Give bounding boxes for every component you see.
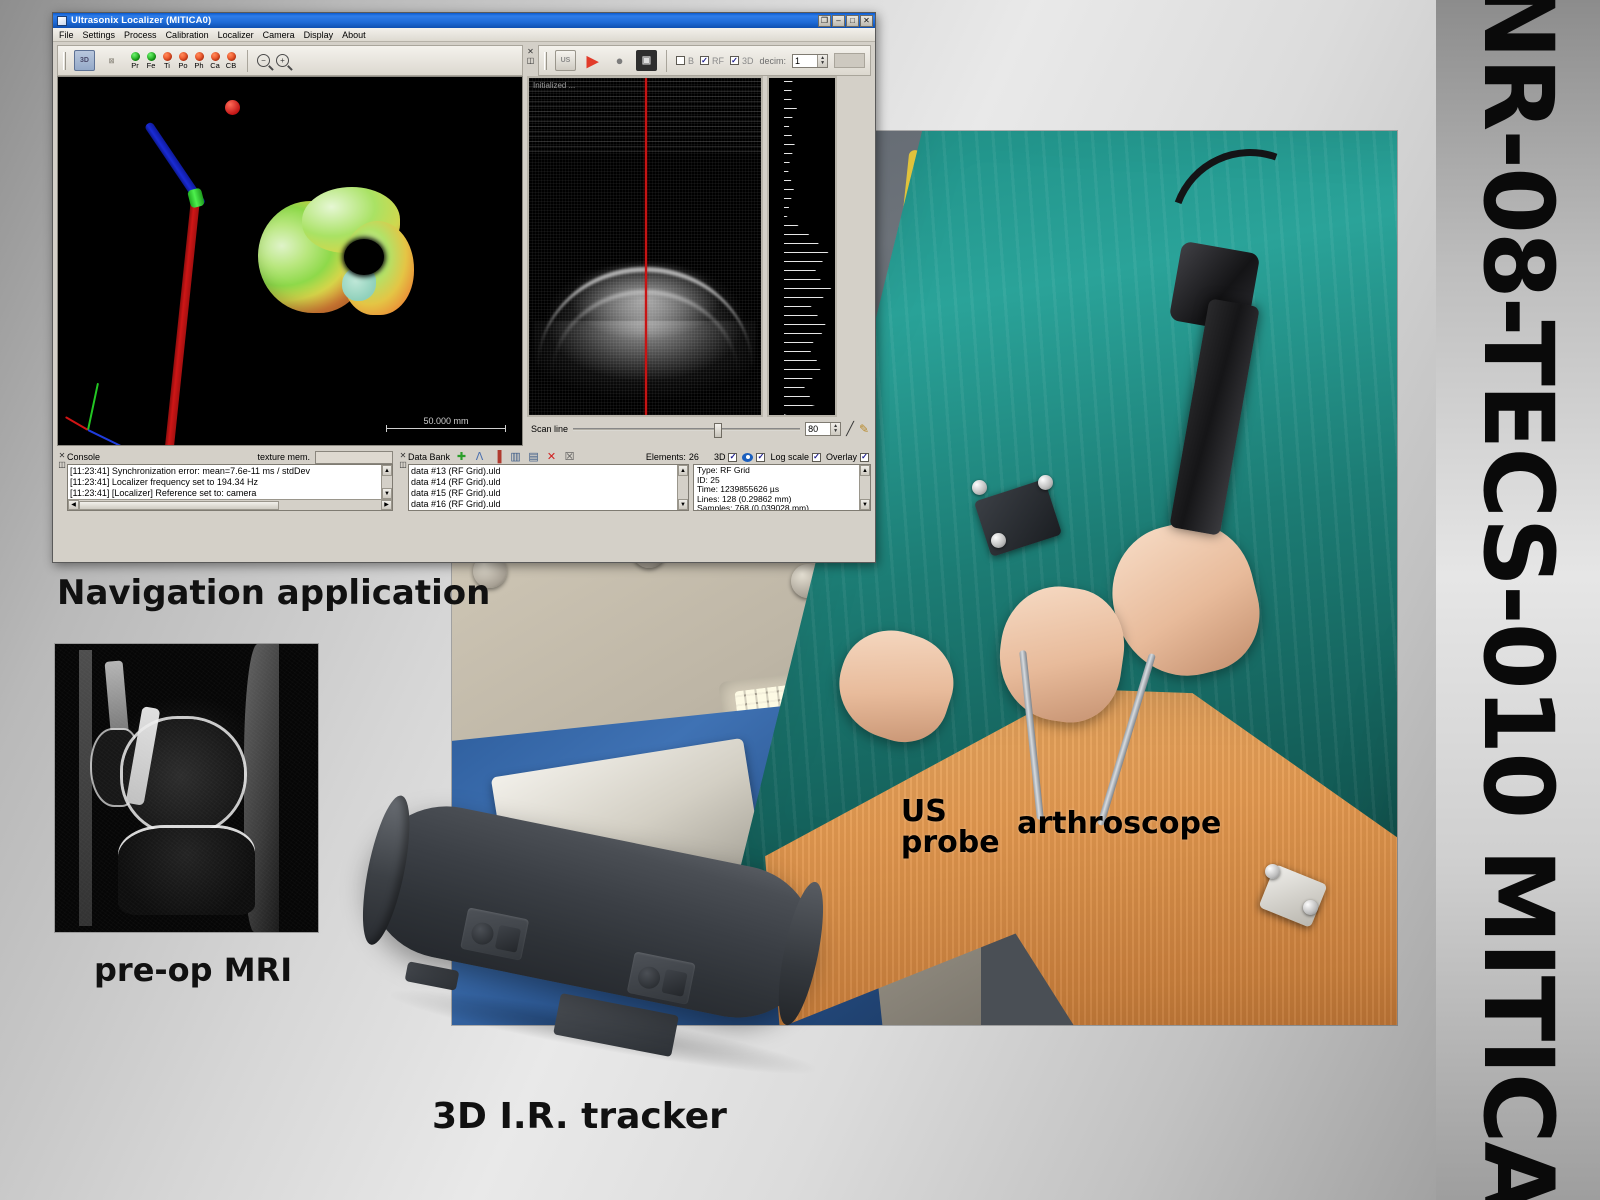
decim-spinner[interactable]: ▲▼ (792, 54, 828, 68)
scroll-up-button[interactable]: ▲ (382, 465, 392, 476)
window-titlebar[interactable]: Ultrasonix Localizer (MITICA0) ❐ – □ ✕ (53, 13, 875, 28)
close-button[interactable]: ✕ (860, 15, 873, 27)
view-3d-button[interactable]: 3D (74, 50, 95, 71)
scanline-spinner[interactable]: ▲▼ (805, 422, 841, 436)
poster-background: US probe arthroscope (0, 0, 1600, 1200)
us-status-text: Initialized ... (533, 81, 575, 90)
poster-vertical-title: ANR-08-TECS-010 MITICAO (1470, 0, 1566, 1200)
window-title: Ultrasonix Localizer (MITICA0) (71, 15, 211, 26)
zoom-in-icon[interactable]: + (276, 54, 289, 67)
console-line: [11:23:41] [Localizer] Reference set to:… (70, 488, 390, 499)
menu-process[interactable]: Process (124, 30, 157, 40)
list-item[interactable]: data #15 (RF Grid).uld (411, 488, 686, 499)
axis-x (65, 416, 89, 431)
app-icon (57, 16, 67, 26)
tracker-led (792, 949, 800, 957)
add-icon[interactable]: ✚ (455, 451, 468, 464)
scanline-cursor[interactable] (645, 78, 647, 415)
dock-float-icon[interactable]: ◫ (58, 460, 66, 469)
console-line: [11:23:41] Localizer frequency set to 19… (70, 477, 390, 488)
eye-icon (742, 453, 753, 462)
led-indicator (195, 52, 204, 61)
tracker-led (797, 934, 805, 942)
spinner-arrows[interactable]: ▲▼ (817, 55, 827, 67)
scroll-up-button[interactable]: ▲ (860, 465, 870, 476)
scroll-down-button[interactable]: ▼ (860, 499, 870, 510)
scroll-up-button[interactable]: ▲ (678, 465, 688, 476)
caption-preop-mri: pre-op MRI (94, 951, 292, 989)
views-row: 50.000 mm Initialized ... (53, 76, 875, 446)
console-dock: ✕ ◫ Console texture mem. [11:23:41] Sync… (57, 450, 393, 511)
toolbar-dock-handle[interactable]: ✕ ◫ (526, 45, 535, 76)
tracker-camera-right (627, 951, 696, 1005)
scanline-controls[interactable]: Scan line ▲▼ ╱ ✎ (527, 417, 871, 437)
led-indicator (179, 52, 188, 61)
label-us-probe-line1: US (901, 797, 1000, 828)
led-indicator (131, 52, 140, 61)
tracker-camera-left (460, 907, 529, 961)
bottom-dock-row: ✕ ◫ Console texture mem. [11:23:41] Sync… (53, 446, 875, 511)
led-po: Po (176, 52, 190, 70)
console-horizontal-scrollbar[interactable]: ◀ ▶ (68, 499, 392, 510)
save-as-icon[interactable]: ▤ (527, 451, 540, 464)
menu-settings[interactable]: Settings (83, 30, 116, 40)
scroll-down-button[interactable]: ▼ (382, 488, 392, 499)
option-log-scale[interactable]: Log scale ✓ (770, 452, 821, 462)
decim-input[interactable] (793, 55, 817, 67)
elements-label: Elements: (646, 452, 686, 462)
databank-header: Data Bank ✚ ᐱ ▐ ▥ ▤ ✕ ☒ Elements: 26 (408, 450, 871, 464)
ir-marker (1303, 900, 1318, 915)
ir-marker (972, 480, 987, 495)
console-log[interactable]: [11:23:41] Synchronization error: mean=7… (67, 464, 393, 511)
window-controls[interactable]: ❐ – □ ✕ (818, 15, 873, 27)
toolbar-grip[interactable] (63, 52, 66, 70)
toolbar-empty-field (834, 53, 865, 68)
checkbox-box[interactable]: ✓ (728, 453, 737, 462)
axis-y (87, 383, 99, 430)
texture-mem-field (315, 451, 393, 464)
dock-close-icon[interactable]: ✕ (59, 451, 66, 460)
left-toolbar[interactable]: 3D ⊠ Pr Fe Ti (57, 45, 523, 76)
spinner-arrows[interactable]: ▲▼ (830, 423, 840, 435)
scroll-thumb[interactable] (79, 501, 279, 510)
checkbox-box[interactable]: ✓ (812, 453, 821, 462)
texture-mem-label: texture mem. (257, 452, 310, 462)
bmode-image-view[interactable]: Initialized ... (527, 76, 763, 417)
dock-float-icon[interactable]: ◫ (399, 460, 407, 469)
console-header: Console texture mem. (67, 450, 393, 464)
zoom-out-icon[interactable]: − (257, 54, 270, 67)
toolbar-separator (247, 50, 248, 72)
right-toolbar[interactable]: US ▶ ● ▣ ✓ B ✓ RF ✓ 3D decim: (538, 45, 871, 76)
list-item[interactable]: data #13 (RF Grid).uld (411, 466, 686, 477)
delete-icon[interactable]: ✕ (545, 451, 558, 464)
led-ti: Ti (160, 52, 174, 70)
led-indicator (163, 52, 172, 61)
scroll-left-button[interactable]: ◀ (68, 500, 79, 510)
axis-z (88, 429, 132, 446)
led-pr: Pr (128, 52, 142, 70)
save-icon[interactable]: ▥ (509, 451, 522, 464)
coordinate-axes-widget (76, 377, 146, 446)
databank-list[interactable]: data #13 (RF Grid).uld data #14 (RF Grid… (408, 464, 689, 511)
decim-label: decim: (760, 56, 787, 66)
rf-waveform (784, 78, 835, 415)
snapshot-icon[interactable]: ▣ (636, 50, 657, 71)
measure-tool-icon[interactable]: ╱ (846, 421, 854, 437)
scanline-slider-thumb[interactable] (714, 423, 722, 438)
menu-localizer[interactable]: Localizer (218, 30, 254, 40)
rf-signal-trace-view[interactable] (767, 76, 837, 417)
checkbox-box[interactable]: ✓ (860, 453, 869, 462)
led-indicator (227, 52, 236, 61)
play-icon[interactable]: ▶ (582, 50, 603, 71)
list-item[interactable]: data #17 (RF Grid).uld (411, 510, 686, 511)
led-cb: CB (224, 52, 238, 70)
scanline-input[interactable] (806, 423, 830, 435)
ir-marker (991, 533, 1006, 548)
led-indicator (147, 52, 156, 61)
led-ph: Ph (192, 52, 206, 70)
scale-bar-line (386, 428, 506, 429)
restore-button[interactable]: ❐ (818, 15, 831, 27)
poster-title-strip: ANR-08-TECS-010 MITICAO (1436, 0, 1600, 1200)
ultrasound-images-row: Initialized ... (527, 76, 871, 417)
record-icon[interactable]: ● (609, 50, 630, 71)
menu-camera[interactable]: Camera (263, 30, 295, 40)
console-title: Console (67, 452, 100, 462)
filter-icon[interactable]: ᐱ (473, 451, 486, 464)
option-overlay[interactable]: Overlay ✓ (826, 452, 869, 462)
checkbox-box[interactable]: ✓ (676, 56, 685, 65)
console-panel: Console texture mem. [11:23:41] Synchron… (67, 450, 393, 511)
dock-float-icon[interactable]: ◫ (527, 56, 535, 65)
ultrasonix-localizer-window[interactable]: Ultrasonix Localizer (MITICA0) ❐ – □ ✕ F… (52, 12, 876, 563)
console-dock-handle[interactable]: ✕ ◫ (57, 450, 67, 511)
console-line: [11:23:41] Synchronization error: mean=7… (70, 466, 390, 477)
status-led-group: Pr Fe Ti Po (128, 52, 238, 70)
metadata-line: Type: RF Grid (697, 466, 867, 476)
list-item[interactable]: data #14 (RF Grid).uld (411, 477, 686, 488)
menu-about[interactable]: About (342, 30, 366, 40)
elements-count: 26 (689, 452, 699, 462)
pencil-tool-icon[interactable]: ✎ (859, 422, 869, 436)
scroll-right-button[interactable]: ▶ (381, 500, 392, 510)
menu-bar[interactable]: File Settings Process Calibration Locali… (53, 28, 875, 42)
tool-axis-red (164, 199, 200, 446)
us-mode-button[interactable]: US (555, 50, 576, 71)
checkbox-box[interactable]: ✓ (700, 56, 709, 65)
menu-calibration[interactable]: Calibration (166, 30, 209, 40)
list-item[interactable]: data #16 (RF Grid).uld (411, 499, 686, 510)
ir-tracker-render (358, 818, 870, 1100)
preop-mri-image (55, 644, 318, 932)
label-us-probe: US probe (901, 797, 1000, 858)
ir-marker (1265, 864, 1280, 879)
tool-tip-marker (225, 100, 240, 115)
mri-slice (55, 644, 318, 932)
ir-marker (1038, 475, 1053, 490)
caption-3d-ir-tracker: 3D I.R. tracker (432, 1096, 727, 1137)
chart-icon[interactable]: ▐ (491, 451, 504, 464)
label-arthroscope: arthroscope (1017, 809, 1221, 840)
menu-display[interactable]: Display (304, 30, 334, 40)
ultrasound-pane: Initialized ... Scan line ▲▼ ╱ (527, 76, 871, 446)
tracker-led (802, 943, 810, 951)
minimize-button[interactable]: – (832, 15, 845, 27)
metadata-line: Samples: 768 (0.039028 mm) (697, 504, 867, 511)
maximize-button[interactable]: □ (846, 15, 859, 27)
led-ca: Ca (208, 52, 222, 70)
scroll-down-button[interactable]: ▼ (678, 499, 688, 510)
databank-dock: ✕ ◫ Data Bank ✚ ᐱ ▐ ▥ ▤ ✕ ☒ Elements: (398, 450, 871, 511)
databank-panel: Data Bank ✚ ᐱ ▐ ▥ ▤ ✕ ☒ Elements: 26 (408, 450, 871, 511)
checkbox-rf[interactable]: ✓ RF (700, 56, 724, 66)
checkbox-box[interactable]: ✓ (756, 453, 765, 462)
mri-noise-texture (55, 644, 318, 932)
toolbar-strip[interactable]: 3D ⊠ Pr Fe Ti (53, 42, 875, 76)
caption-navigation-application: Navigation application (57, 573, 490, 613)
dock-close-icon[interactable]: ✕ (400, 451, 407, 460)
label-us-probe-line2: probe (901, 828, 1000, 859)
databank-vertical-scrollbar[interactable]: ▲ ▼ (677, 465, 688, 510)
trash-icon[interactable]: ☒ (563, 451, 576, 464)
checkbox-b[interactable]: ✓ B (676, 56, 694, 66)
option-visibility[interactable]: ✓ (742, 453, 765, 462)
checkbox-box[interactable]: ✓ (730, 56, 739, 65)
led-fe: Fe (144, 52, 158, 70)
dock-close-icon[interactable]: ✕ (527, 47, 534, 56)
databank-metadata: Type: RF Grid ID: 25 Time: 1239855626 µs… (693, 464, 871, 511)
scale-bar-label: 50.000 mm (386, 416, 506, 426)
menu-file[interactable]: File (59, 30, 74, 40)
tool-origin-green (187, 188, 205, 209)
led-indicator (211, 52, 220, 61)
scanline-label: Scan line (531, 424, 568, 434)
databank-title: Data Bank (408, 452, 450, 462)
bone-intercondylar-hole (344, 239, 384, 275)
scale-bar: 50.000 mm (386, 416, 506, 429)
grid-icon[interactable]: ⊠ (101, 50, 122, 71)
checkbox-3d[interactable]: ✓ 3D (730, 56, 754, 66)
scanline-slider[interactable] (573, 428, 800, 431)
femur-surface-model (258, 187, 412, 327)
toolbar-separator (666, 50, 667, 72)
metadata-vertical-scrollbar[interactable]: ▲ ▼ (859, 465, 870, 510)
option-3d[interactable]: 3D ✓ (714, 452, 738, 462)
3d-navigation-view[interactable]: 50.000 mm (57, 76, 523, 446)
toolbar-grip[interactable] (544, 52, 547, 70)
databank-dock-handle[interactable]: ✕ ◫ (398, 450, 408, 511)
